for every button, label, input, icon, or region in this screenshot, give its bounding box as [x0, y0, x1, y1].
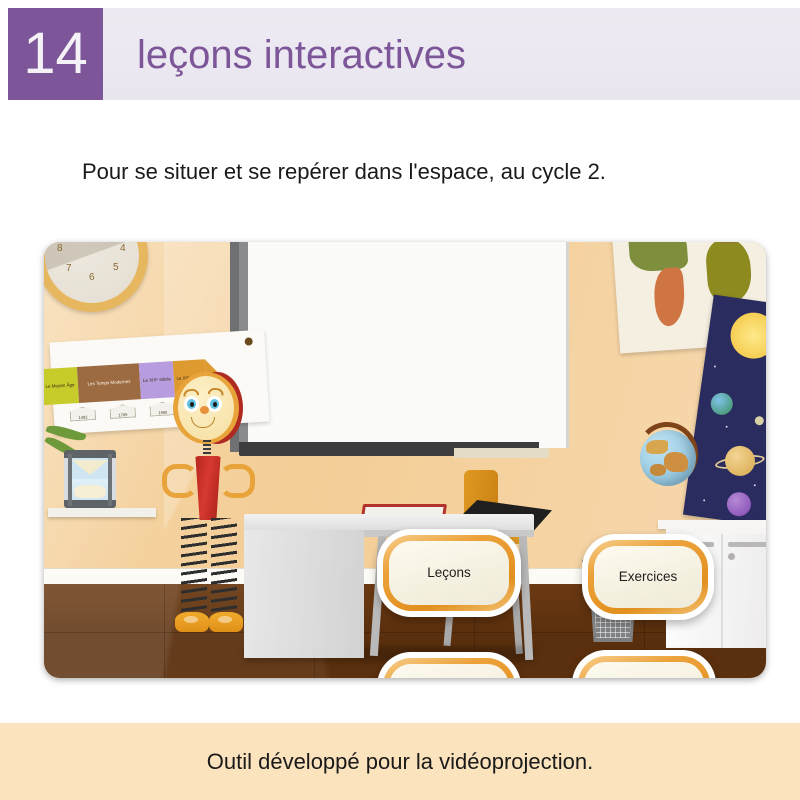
purple-planet	[725, 491, 752, 518]
menu-button-bibliotheque-de-medias[interactable]: Bibliothèque de médias	[572, 650, 716, 678]
map-continent	[705, 242, 753, 303]
clock-number: 4	[120, 243, 126, 254]
subtitle-text: Pour se situer et se repérer dans l'espa…	[82, 159, 606, 185]
menu-button-label: Leçons	[389, 541, 509, 605]
app-screenshot: 4 5 6 7 8 Le Moyen Âge Les Temps Moderne…	[44, 242, 766, 678]
timeline-segment: Le Moyen Âge	[44, 367, 79, 405]
mascot-pupil	[213, 402, 217, 407]
globe-landmass	[646, 440, 668, 454]
small-planet	[754, 416, 764, 426]
globe	[640, 430, 696, 486]
footer-band: Outil développé pour la vidéoprojection.	[0, 723, 800, 800]
mascot-spring-leg	[211, 518, 237, 616]
star	[754, 484, 756, 486]
clock-number: 6	[89, 272, 95, 283]
mascot-arm	[162, 464, 198, 498]
page-root: 14 leçons interactives Pour se situer et…	[0, 0, 800, 800]
hourglass-sand-bottom	[74, 485, 106, 498]
clock-number: 8	[57, 243, 63, 254]
shelf	[48, 508, 156, 517]
mascot-character	[149, 372, 269, 662]
mascot-foot	[175, 612, 209, 632]
mascot-nose	[200, 406, 209, 414]
page-title: leçons interactives	[137, 28, 466, 82]
button-ring: Exercices	[588, 540, 708, 614]
star	[714, 365, 716, 367]
hourglass-post	[68, 454, 72, 506]
button-ring: Évaluations	[383, 658, 515, 678]
globe-landmass	[664, 452, 688, 472]
mascot-neck-spring	[203, 440, 211, 458]
poster-pin	[244, 337, 252, 345]
timeline-tag: 1789	[109, 404, 136, 420]
saturn-planet	[723, 444, 757, 478]
earth-planet	[709, 391, 734, 416]
timeline-segment: Les Temps Modernes	[77, 363, 141, 403]
mascot-spring-leg	[181, 518, 207, 616]
menu-button-label: Bibliothèque de médias	[584, 662, 704, 678]
chapter-number: 14	[23, 25, 88, 83]
footer-text: Outil développé pour la vidéoprojection.	[207, 749, 593, 775]
menu-button-exercices[interactable]: Exercices	[582, 534, 714, 620]
menu-button-lecons[interactable]: Leçons	[377, 529, 521, 617]
star	[726, 426, 728, 428]
map-continent	[653, 267, 687, 327]
whiteboard-tray	[454, 448, 549, 458]
chapter-badge: 14	[8, 8, 103, 100]
button-ring: Leçons	[383, 535, 515, 611]
cabinet-handle[interactable]	[728, 542, 766, 547]
menu-button-label: Évaluations	[389, 664, 509, 678]
clock-number: 5	[113, 262, 119, 273]
whiteboard	[239, 242, 569, 448]
page-header: 14 leçons interactives	[0, 8, 800, 100]
mascot-pupil	[190, 402, 194, 407]
mascot-arm	[219, 464, 255, 498]
sun	[728, 310, 766, 362]
menu-button-label: Exercices	[594, 546, 702, 608]
mascot-torso	[193, 456, 223, 520]
cabinet-divider	[721, 534, 723, 648]
clock-number: 7	[66, 263, 72, 274]
star	[703, 499, 705, 501]
hourglass-post	[108, 454, 112, 506]
mascot-foot	[209, 612, 243, 632]
button-ring: Bibliothèque de médias	[578, 656, 710, 678]
timeline-tag: 1492	[69, 406, 96, 422]
cabinet-knob[interactable]	[728, 553, 735, 560]
menu-button-evaluations[interactable]: Évaluations	[377, 652, 521, 678]
globe-landmass	[650, 464, 666, 476]
